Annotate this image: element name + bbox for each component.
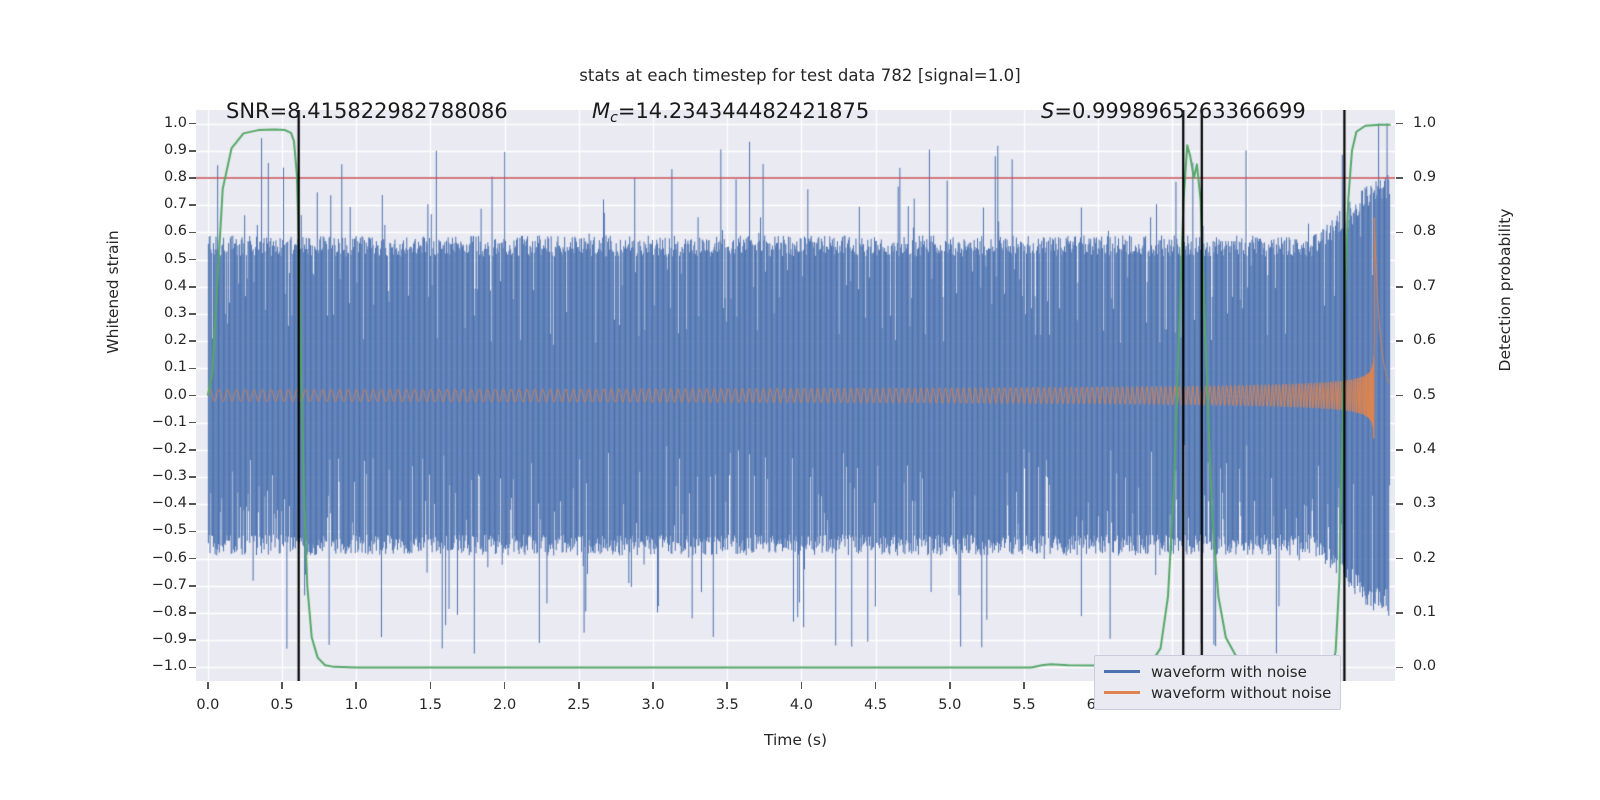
legend-item[interactable]: waveform with noise	[1104, 661, 1331, 682]
x-tick-label: 2.0	[475, 697, 535, 713]
x-tick-label: 0.0	[178, 697, 238, 713]
y-tick-mark-right	[1396, 123, 1403, 125]
y-tick-label-left: 0.9	[141, 142, 187, 158]
y-tick-mark-right	[1396, 395, 1403, 397]
y-tick-label-left: −0.2	[141, 441, 187, 457]
annotation-snr: SNR=8.415822982788086	[226, 99, 508, 123]
y-axis-label-left: Whitened strain	[104, 187, 122, 397]
y-tick-mark-left	[189, 340, 196, 342]
x-tick-label: 1.5	[400, 697, 460, 713]
y-tick-label-left: 1.0	[141, 115, 187, 131]
y-tick-mark-right	[1396, 232, 1403, 234]
x-tick-mark	[801, 682, 803, 689]
legend-swatch-icon	[1104, 691, 1140, 694]
y-tick-label-left: −0.6	[141, 550, 187, 566]
y-tick-label-right: 0.7	[1413, 278, 1463, 294]
y-tick-label-right: 0.9	[1413, 169, 1463, 185]
y-tick-label-left: −1.0	[141, 658, 187, 674]
x-tick-label: 4.5	[846, 697, 906, 713]
y-tick-label-left: −0.8	[141, 604, 187, 620]
y-tick-mark-left	[189, 259, 196, 261]
annotation-score-value: 0.9998965263366699	[1072, 99, 1306, 123]
y-tick-mark-left	[189, 585, 196, 587]
y-tick-mark-left	[189, 150, 196, 152]
x-tick-label: 5.0	[920, 697, 980, 713]
x-tick-mark	[652, 682, 654, 689]
figure: stats at each timestep for test data 782…	[0, 0, 1600, 800]
y-tick-mark-left	[189, 204, 196, 206]
y-tick-mark-left	[189, 232, 196, 234]
y-tick-label-right: 0.0	[1413, 658, 1463, 674]
annotation-snr-value: 8.415822982788086	[287, 99, 507, 123]
x-tick-mark	[726, 682, 728, 689]
annotation-chirp-mass-value: 14.234344482421875	[635, 99, 869, 123]
x-tick-mark	[875, 682, 877, 689]
y-tick-mark-left	[189, 558, 196, 560]
y-tick-label-left: −0.1	[141, 414, 187, 430]
y-tick-mark-right	[1396, 286, 1403, 288]
y-tick-mark-left	[189, 667, 196, 669]
y-tick-label-left: −0.7	[141, 577, 187, 593]
x-tick-label: 3.5	[697, 697, 757, 713]
x-tick-label: 2.5	[549, 697, 609, 713]
y-tick-mark-left	[189, 368, 196, 370]
x-tick-label: 1.0	[326, 697, 386, 713]
y-tick-mark-left	[189, 395, 196, 397]
legend: waveform with noisewaveform without nois…	[1094, 655, 1341, 710]
x-tick-mark	[1023, 682, 1025, 689]
y-tick-mark-right	[1396, 503, 1403, 505]
y-tick-mark-left	[189, 503, 196, 505]
y-tick-label-right: 0.4	[1413, 441, 1463, 457]
x-tick-mark	[504, 682, 506, 689]
x-tick-mark	[949, 682, 951, 689]
x-tick-label: 3.0	[623, 697, 683, 713]
y-tick-label-left: −0.4	[141, 495, 187, 511]
y-tick-mark-left	[189, 123, 196, 125]
y-tick-label-left: 0.8	[141, 169, 187, 185]
legend-item[interactable]: waveform without noise	[1104, 682, 1331, 703]
y-tick-mark-left	[189, 612, 196, 614]
annotation-score: S=0.9998965263366699	[1041, 99, 1306, 123]
y-tick-mark-left	[189, 531, 196, 533]
y-tick-mark-right	[1396, 340, 1403, 342]
chart-canvas	[196, 110, 1395, 681]
page-title: stats at each timestep for test data 782…	[0, 66, 1600, 85]
legend-label: waveform without noise	[1151, 684, 1331, 702]
y-tick-mark-left	[189, 639, 196, 641]
y-tick-label-left: 0.4	[141, 278, 187, 294]
legend-label: waveform with noise	[1151, 663, 1307, 681]
annotation-snr-text: SNR=	[226, 99, 287, 123]
y-tick-label-right: 0.3	[1413, 495, 1463, 511]
y-tick-label-right: 0.1	[1413, 604, 1463, 620]
x-tick-mark	[355, 682, 357, 689]
y-tick-label-right: 0.6	[1413, 332, 1463, 348]
y-tick-mark-left	[189, 476, 196, 478]
annotation-chirp-mass-symbol: M	[592, 99, 610, 123]
y-tick-label-right: 1.0	[1413, 115, 1463, 131]
x-tick-mark	[207, 682, 209, 689]
y-tick-label-left: 0.0	[141, 387, 187, 403]
y-tick-mark-right	[1396, 667, 1403, 669]
annotation-chirp-mass-eq: =	[618, 99, 636, 123]
y-tick-label-left: 0.3	[141, 305, 187, 321]
y-tick-mark-left	[189, 313, 196, 315]
annotation-chirp-mass-subscript: c	[610, 110, 618, 126]
annotation-chirp-mass: Mc=14.234344482421875	[592, 99, 869, 126]
y-tick-label-left: 0.6	[141, 223, 187, 239]
y-tick-mark-right	[1396, 558, 1403, 560]
x-tick-mark	[430, 682, 432, 689]
y-tick-label-left: 0.5	[141, 251, 187, 267]
x-tick-mark	[281, 682, 283, 689]
y-tick-mark-left	[189, 449, 196, 451]
y-tick-label-right: 0.2	[1413, 550, 1463, 566]
y-tick-label-left: −0.3	[141, 468, 187, 484]
y-tick-label-left: 0.7	[141, 196, 187, 212]
y-tick-label-left: −0.9	[141, 631, 187, 647]
y-tick-label-left: 0.1	[141, 359, 187, 375]
y-axis-label-right: Detection probability	[1496, 175, 1514, 405]
y-tick-mark-left	[189, 286, 196, 288]
y-tick-label-left: −0.5	[141, 522, 187, 538]
y-tick-label-right: 0.8	[1413, 223, 1463, 239]
legend-swatch-icon	[1104, 670, 1140, 673]
y-tick-mark-left	[189, 422, 196, 424]
x-axis-label: Time (s)	[196, 731, 1395, 749]
x-tick-mark	[578, 682, 580, 689]
y-tick-mark-right	[1396, 449, 1403, 451]
y-tick-mark-left	[189, 177, 196, 179]
annotation-score-symbol: S	[1041, 99, 1054, 123]
x-tick-label: 4.0	[771, 697, 831, 713]
annotation-score-eq: =	[1054, 99, 1072, 123]
plot-area	[196, 110, 1395, 681]
y-tick-mark-right	[1396, 177, 1403, 179]
y-tick-mark-right	[1396, 612, 1403, 614]
y-tick-label-left: 0.2	[141, 332, 187, 348]
x-tick-label: 5.5	[994, 697, 1054, 713]
y-tick-label-right: 0.5	[1413, 387, 1463, 403]
x-tick-label: 0.5	[252, 697, 312, 713]
